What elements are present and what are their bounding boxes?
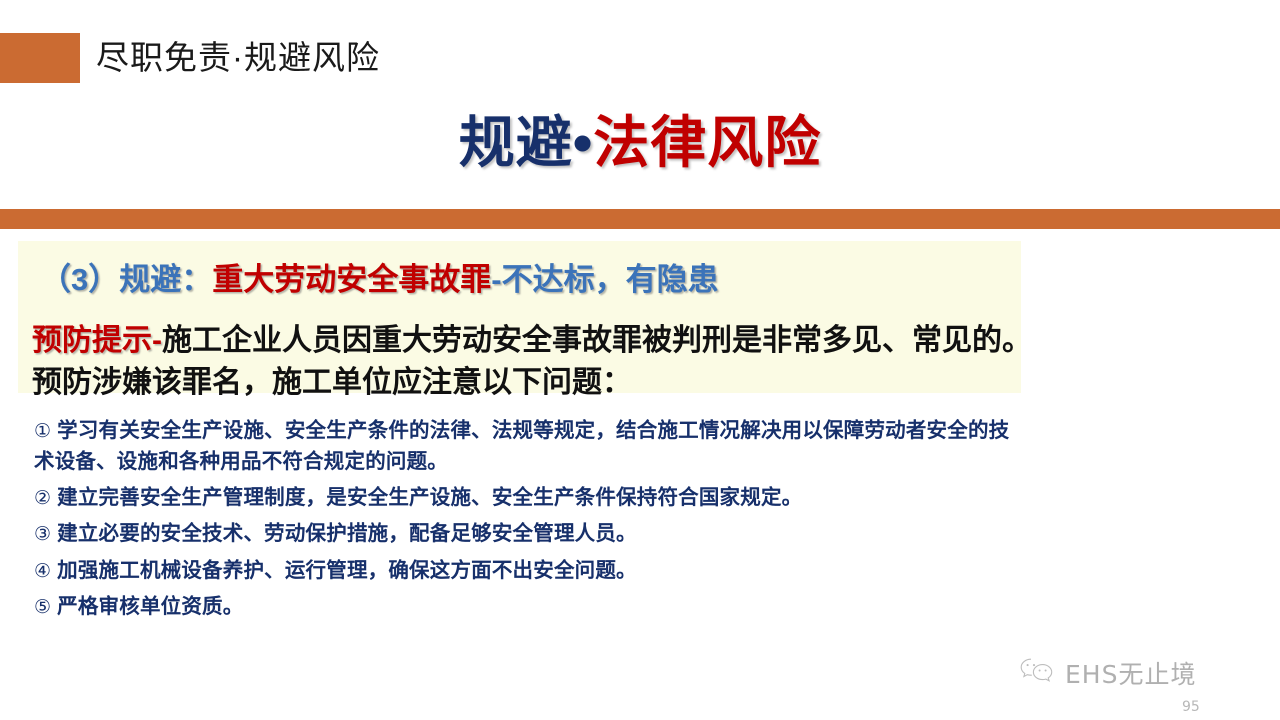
list-item: ③ 建立必要的安全技术、劳动保护措施，配备足够安全管理人员。 — [34, 519, 1254, 550]
list-marker: ④ — [34, 561, 51, 582]
header-accent-block — [0, 33, 80, 83]
list-item-text: 严格审核单位资质。 — [57, 595, 243, 618]
list-item-text: 建立必要的安全技术、劳动保护措施，配备足够安全管理人员。 — [57, 522, 637, 545]
list-marker: ② — [34, 488, 51, 509]
wechat-icon — [1018, 656, 1058, 691]
page-number: 95 — [1182, 699, 1200, 715]
list-item-text-cont: 术设备、设施和各种用品不符合规定的问题。 — [34, 447, 1254, 477]
list-item: ⑤ 严格审核单位资质。 — [34, 592, 1254, 623]
page-title: 规避•法律风险 — [0, 108, 1280, 178]
page-title-red-part: 法律风险 — [593, 111, 821, 174]
prevention-tip-label: 预防提示- — [32, 324, 162, 357]
list-item: ② 建立完善安全生产管理制度，是安全生产设施、安全生产条件保持符合国家规定。 — [34, 483, 1254, 514]
lead-heading-prefix: （3）规避： — [40, 262, 212, 297]
lead-heading-suffix: -不达标，有隐患 — [491, 262, 718, 297]
watermark-text: EHS无止境 — [1065, 655, 1196, 691]
list-item-text: 学习有关安全生产设施、安全生产条件的法律、法规等规定，结合施工情况解决用以保障劳… — [57, 419, 1009, 442]
list-marker: ① — [34, 421, 51, 442]
prevention-tip-text: 施工企业人员因重大劳动安全事故罪被判刑是非常多见、常见的。 — [162, 324, 1032, 357]
section-divider — [0, 209, 1280, 229]
numbered-list: ① 学习有关安全生产设施、安全生产条件的法律、法规等规定，结合施工情况解决用以保… — [34, 416, 1254, 629]
prevention-tip-line1: 预防提示-施工企业人员因重大劳动安全事故罪被判刑是非常多见、常见的。 — [32, 320, 1032, 361]
list-item-text: 建立完善安全生产管理制度，是安全生产设施、安全生产条件保持符合国家规定。 — [57, 486, 802, 509]
page-title-blue-part: 规避• — [459, 111, 594, 174]
watermark: EHS无止境 — [1018, 655, 1196, 691]
header-title: 尽职免责·规避风险 — [96, 36, 380, 80]
lead-heading: （3）规避：重大劳动安全事故罪-不达标，有隐患 — [40, 258, 719, 302]
list-marker: ⑤ — [34, 597, 51, 618]
list-item-text: 加强施工机械设备养护、运行管理，确保这方面不出安全问题。 — [57, 559, 637, 582]
list-item: ④ 加强施工机械设备养护、运行管理，确保这方面不出安全问题。 — [34, 556, 1254, 587]
lead-heading-crime: 重大劳动安全事故罪 — [212, 262, 491, 297]
list-item: ① 学习有关安全生产设施、安全生产条件的法律、法规等规定，结合施工情况解决用以保… — [34, 416, 1254, 477]
prevention-tip-line2: 预防涉嫌该罪名，施工单位应注意以下问题： — [32, 362, 632, 403]
list-marker: ③ — [34, 524, 51, 545]
slide-canvas: 尽职免责·规避风险 规避•法律风险 （3）规避：重大劳动安全事故罪-不达标，有隐… — [0, 0, 1280, 720]
